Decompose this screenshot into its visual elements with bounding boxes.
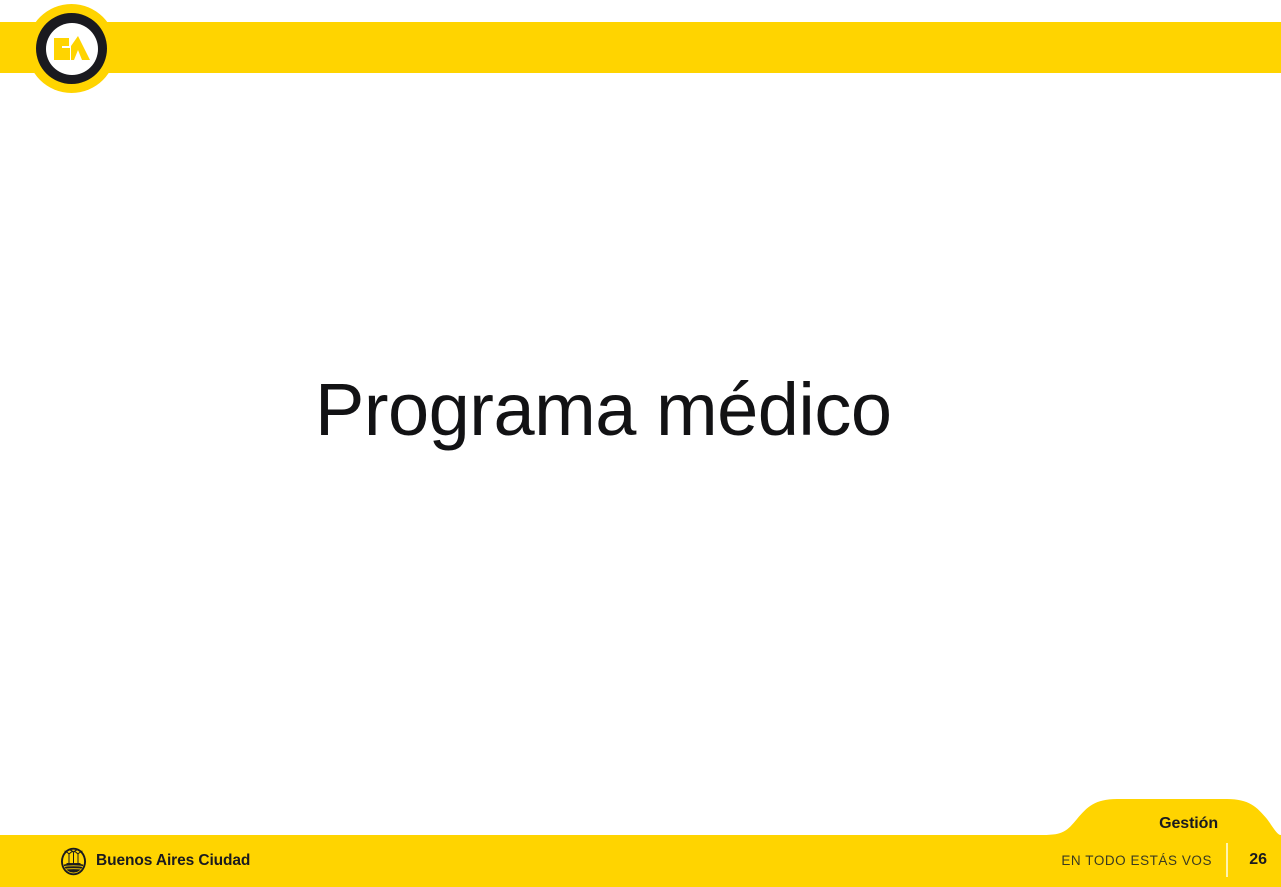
footer-tab-label: Gestión xyxy=(1159,815,1218,833)
header-band xyxy=(0,22,1281,73)
city-brand-label: Buenos Aires Ciudad xyxy=(96,852,250,870)
page-number: 26 xyxy=(1249,851,1267,869)
city-brand-lockup: Buenos Aires Ciudad xyxy=(60,843,250,879)
slide-canvas: Programa médico xyxy=(0,0,1281,887)
ba-logo-inner xyxy=(46,23,98,75)
footer-slogan: EN TODO ESTÁS VOS xyxy=(1061,853,1212,868)
slide-body: Programa médico xyxy=(0,73,1281,835)
footer-divider xyxy=(1226,843,1228,877)
footer-tab-shape xyxy=(1029,797,1281,835)
buenos-aires-city-seal-icon xyxy=(60,847,87,876)
page-title: Programa médico xyxy=(315,369,892,450)
